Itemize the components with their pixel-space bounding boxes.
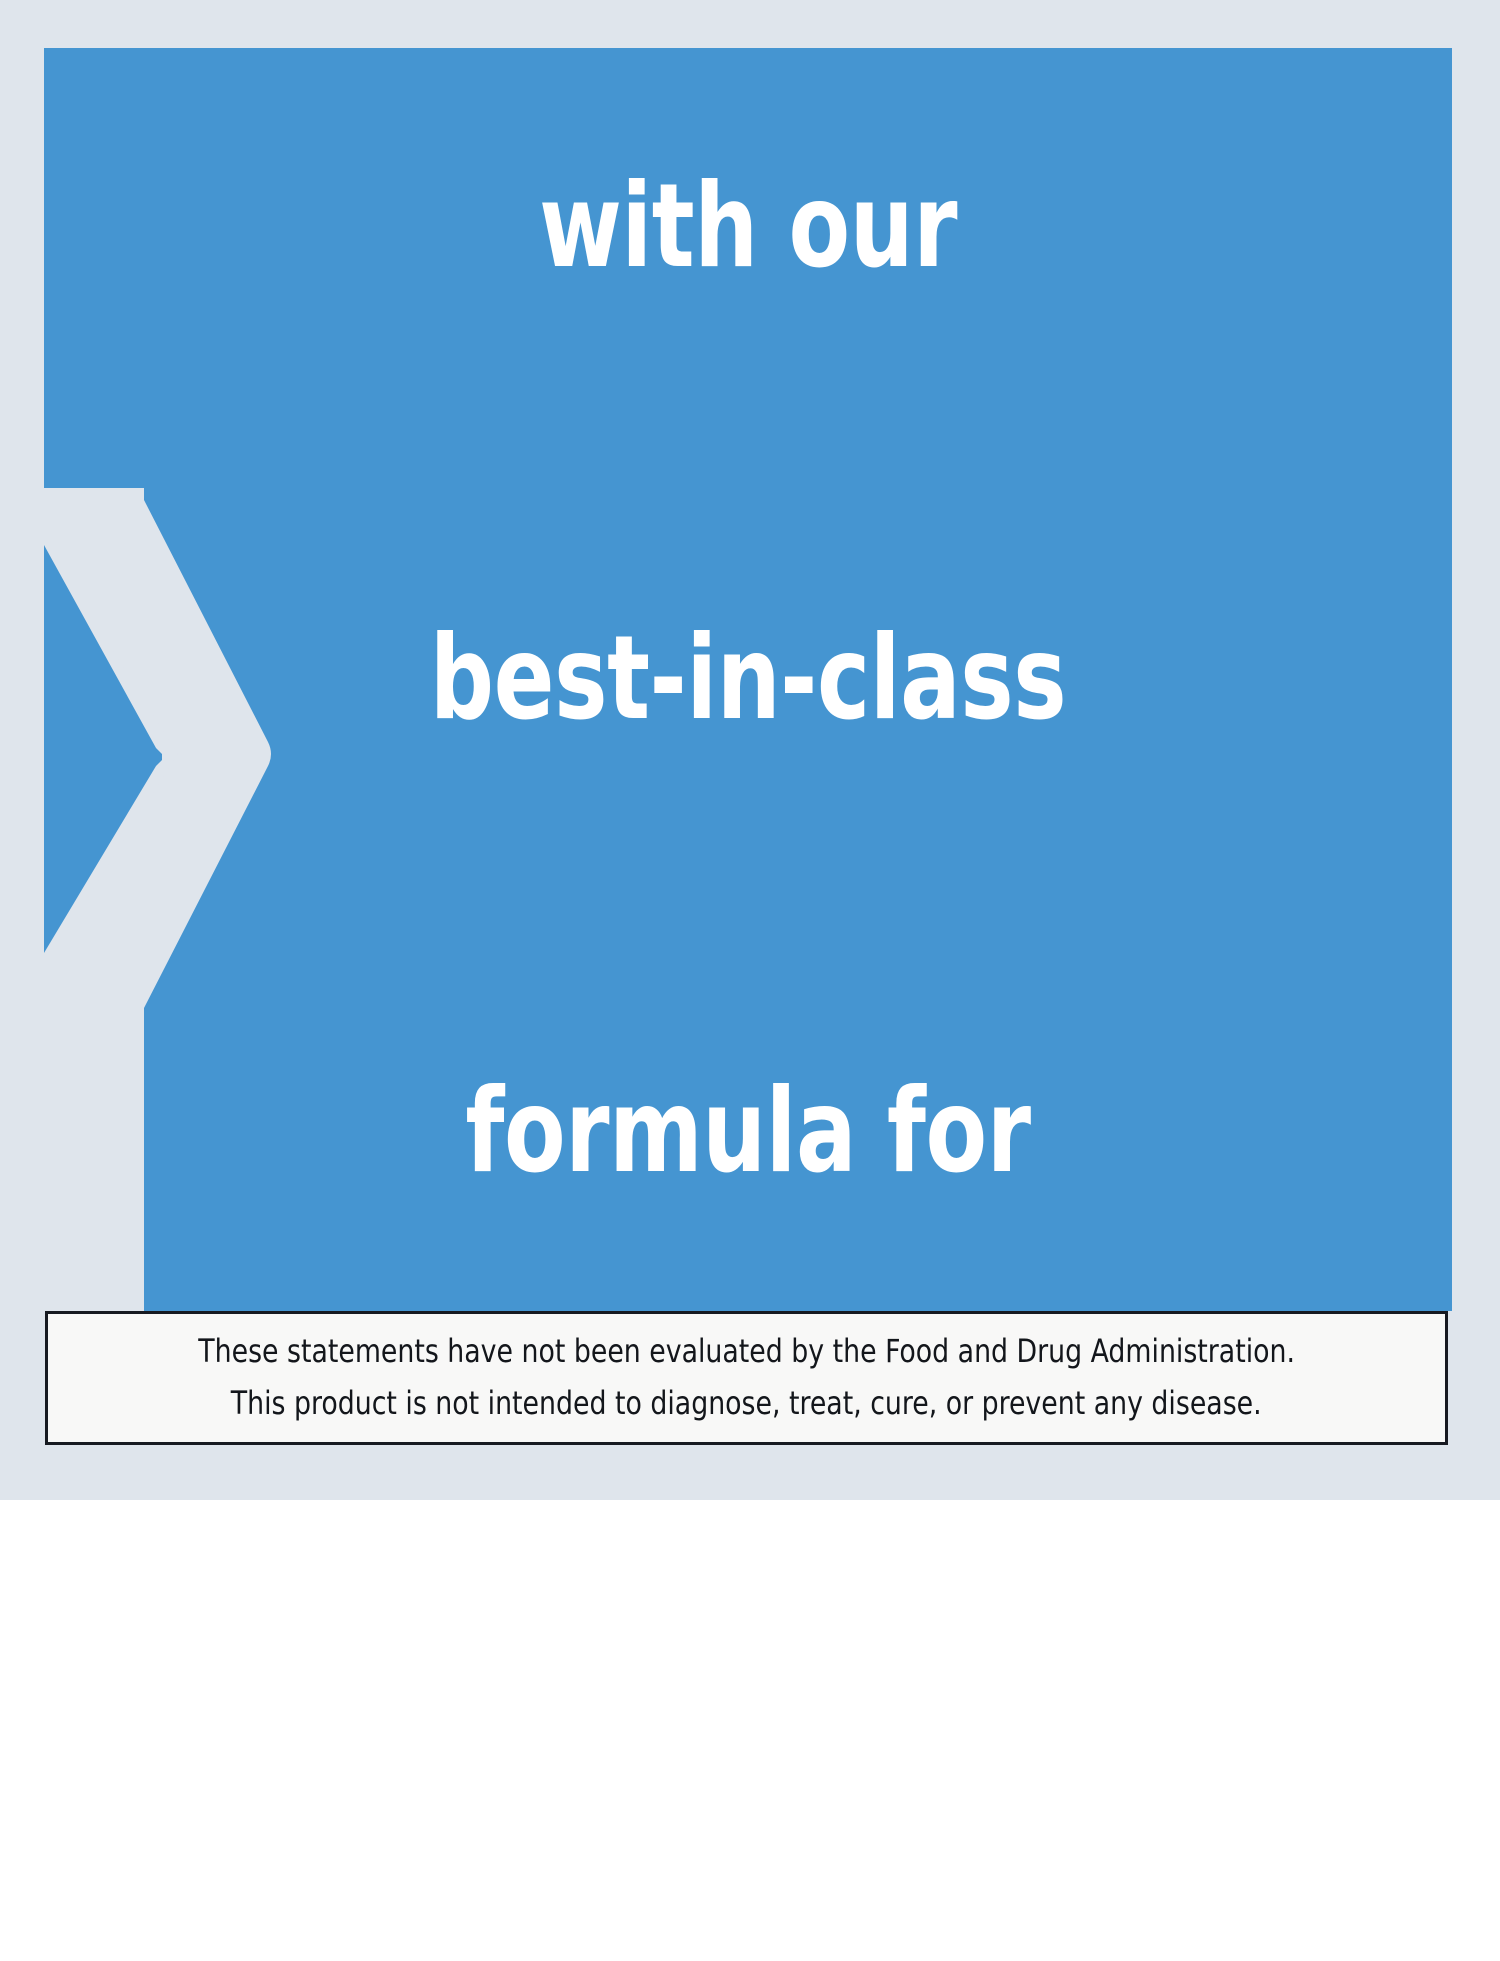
disclaimer-line-1: These statements have not been evaluated… (198, 1326, 1295, 1378)
headline-line-5: healthy aging. (143, 1509, 1354, 1660)
promo-card: Fight Father Time with our best-in-class… (0, 0, 1500, 1500)
chevron-right-icon (44, 48, 1452, 1311)
hero-panel (44, 48, 1452, 1311)
fda-disclaimer-box: These statements have not been evaluated… (45, 1311, 1448, 1445)
disclaimer-line-2: This product is not intended to diagnose… (231, 1378, 1262, 1430)
